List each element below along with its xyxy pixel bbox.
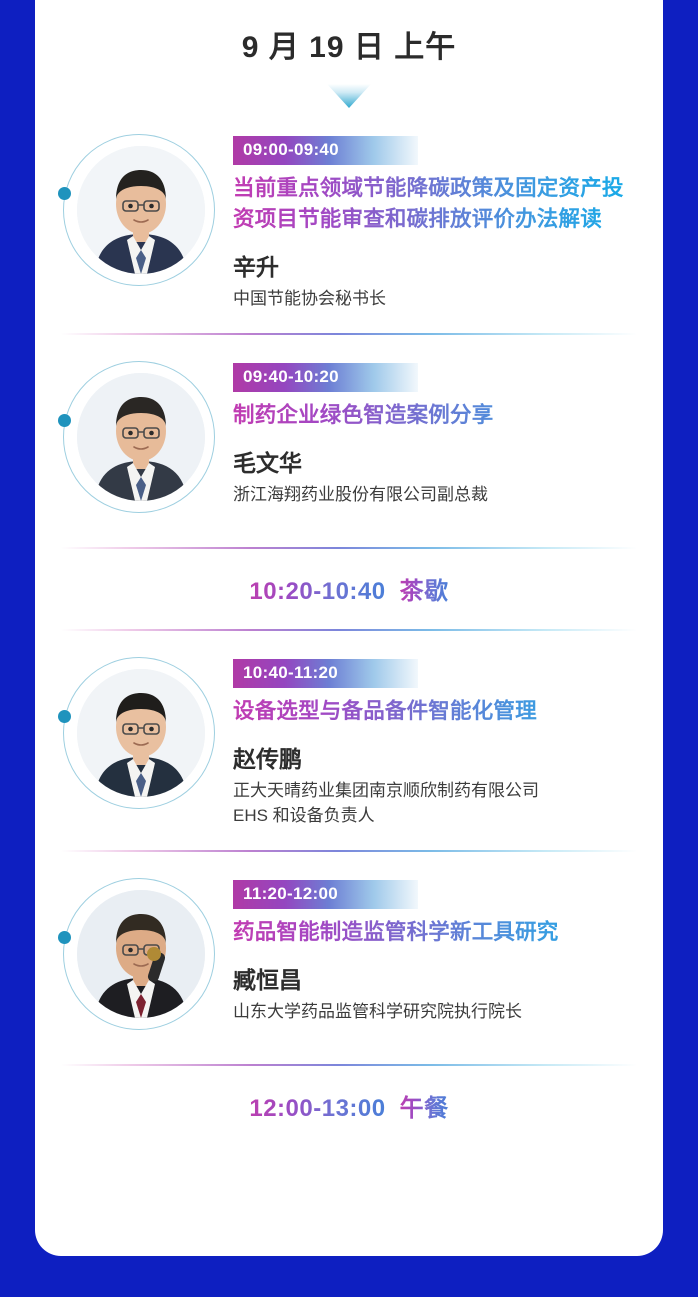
- speaker-name: 毛文华: [233, 447, 637, 479]
- speaker-name: 臧恒昌: [233, 964, 637, 996]
- session-body: 10:40-11:20 设备选型与备品备件智能化管理 赵传鹏 正大天晴药业集团南…: [233, 653, 637, 828]
- break-row: 10:20-10:40茶歇: [35, 549, 663, 629]
- avatar: [55, 357, 223, 525]
- session-body: 09:40-10:20 制药企业绿色智造案例分享 毛文华 浙江海翔药业股份有限公…: [233, 357, 637, 507]
- session-title[interactable]: 当前重点领域节能降碳政策及固定资产投资项目节能审查和碳排放评价办法解读: [233, 173, 637, 235]
- speaker-photo: [77, 146, 205, 274]
- bottom-spacer: [35, 1146, 663, 1186]
- speaker-affiliation: 浙江海翔药业股份有限公司副总裁: [233, 482, 637, 507]
- avatar: [55, 874, 223, 1042]
- speaker-name: 辛升: [233, 251, 637, 283]
- speaker-name: 赵传鹏: [233, 743, 637, 775]
- avatar-dot-icon: [58, 710, 71, 723]
- break-title: 午餐: [400, 1088, 449, 1123]
- session-body: 11:20-12:00 药品智能制造监管科学新工具研究 臧恒昌 山东大学药品监管…: [233, 874, 637, 1024]
- time-badge: 10:40-11:20: [233, 659, 418, 688]
- speaker-photo: [77, 669, 205, 797]
- speaker-affiliation-line: 中国节能协会秘书长: [233, 286, 637, 311]
- speaker-affiliation-line: 山东大学药品监管科学研究院执行院长: [233, 999, 637, 1024]
- session-row[interactable]: 09:00-09:40 当前重点领域节能降碳政策及固定资产投资项目节能审查和碳排…: [35, 108, 663, 333]
- break-label: 10:20-10:40: [249, 578, 385, 606]
- avatar-dot-icon: [58, 931, 71, 944]
- speaker-affiliation-line: EHS 和设备负责人: [233, 803, 637, 828]
- break-title: 茶歇: [400, 571, 449, 606]
- speaker-photo: [77, 373, 205, 501]
- speaker-affiliation: 中国节能协会秘书长: [233, 286, 637, 311]
- speaker-affiliation-line: 正大天晴药业集团南京顺欣制药有限公司: [233, 778, 637, 803]
- session-title[interactable]: 制药企业绿色智造案例分享: [233, 400, 637, 431]
- page-title: 9 月 19 日 上午: [35, 26, 663, 70]
- avatar: [55, 653, 223, 821]
- avatar: [55, 130, 223, 298]
- session-row[interactable]: 10:40-11:20 设备选型与备品备件智能化管理 赵传鹏 正大天晴药业集团南…: [35, 631, 663, 850]
- avatar-dot-icon: [58, 187, 71, 200]
- chevron-down-triangle-icon: [327, 84, 371, 108]
- break-row: 12:00-13:00午餐: [35, 1066, 663, 1146]
- session-body: 09:00-09:40 当前重点领域节能降碳政策及固定资产投资项目节能审查和碳排…: [233, 130, 637, 311]
- speaker-photo: [77, 890, 205, 1018]
- time-badge: 09:00-09:40: [233, 136, 418, 165]
- speaker-affiliation-line: 浙江海翔药业股份有限公司副总裁: [233, 482, 637, 507]
- session-title[interactable]: 药品智能制造监管科学新工具研究: [233, 917, 637, 948]
- agenda-card: 9 月 19 日 上午 09:00-09:40 当: [35, 0, 663, 1256]
- break-label: 12:00-13:00: [249, 1095, 385, 1123]
- session-title[interactable]: 设备选型与备品备件智能化管理: [233, 696, 637, 727]
- avatar-dot-icon: [58, 414, 71, 427]
- speaker-affiliation: 正大天晴药业集团南京顺欣制药有限公司EHS 和设备负责人: [233, 778, 637, 828]
- time-badge: 09:40-10:20: [233, 363, 418, 392]
- speaker-affiliation: 山东大学药品监管科学研究院执行院长: [233, 999, 637, 1024]
- session-row[interactable]: 11:20-12:00 药品智能制造监管科学新工具研究 臧恒昌 山东大学药品监管…: [35, 852, 663, 1064]
- schedule-list: 09:00-09:40 当前重点领域节能降碳政策及固定资产投资项目节能审查和碳排…: [35, 108, 663, 1146]
- header: 9 月 19 日 上午: [35, 0, 663, 108]
- session-row[interactable]: 09:40-10:20 制药企业绿色智造案例分享 毛文华 浙江海翔药业股份有限公…: [35, 335, 663, 547]
- time-badge: 11:20-12:00: [233, 880, 418, 909]
